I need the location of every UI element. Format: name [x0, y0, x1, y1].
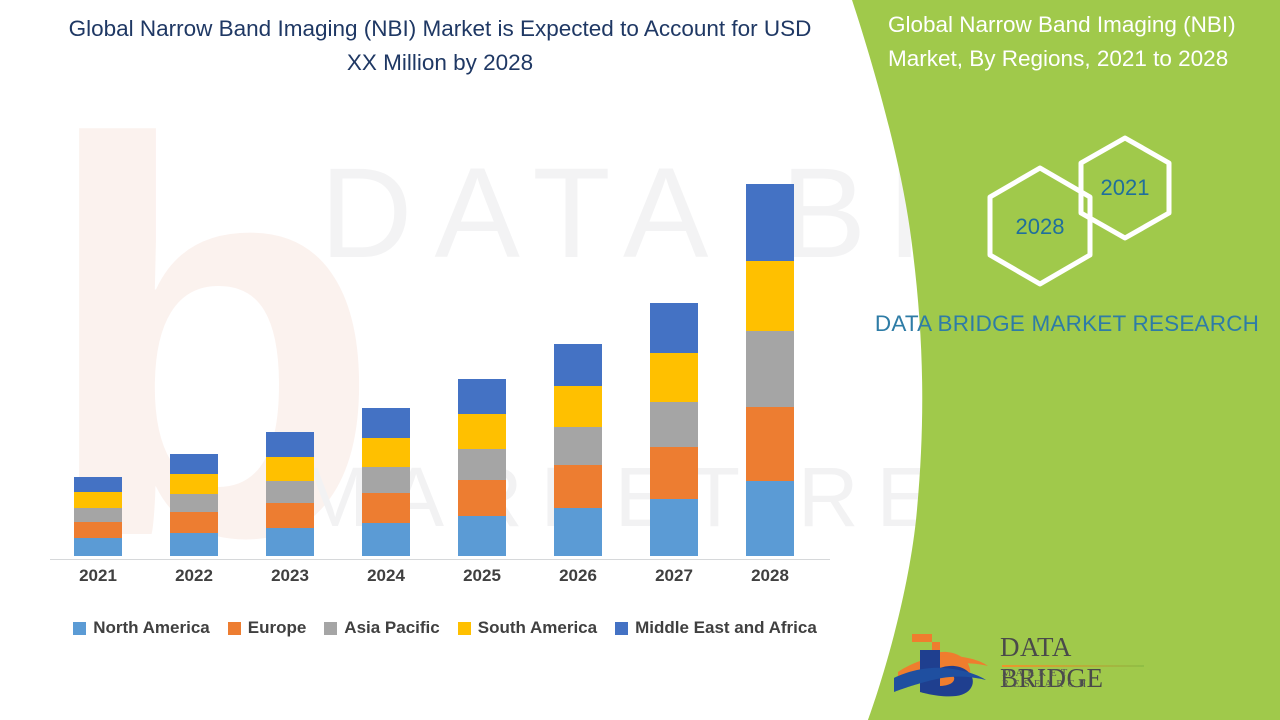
bar-segment[interactable] [74, 477, 122, 492]
hexagon-label-2028: 2028 [990, 214, 1090, 240]
bar-segment[interactable] [170, 494, 218, 512]
legend-swatch-icon [324, 622, 337, 635]
legend-label: South America [478, 618, 597, 638]
bar-segment[interactable] [362, 408, 410, 438]
bar-segment[interactable] [458, 449, 506, 480]
legend-swatch-icon [615, 622, 628, 635]
bar-segment[interactable] [170, 474, 218, 494]
bar-group-2023[interactable] [266, 432, 314, 556]
bar-segment[interactable] [74, 538, 122, 556]
company-logo: DATA BRIDGE MARKET RESEARCH [890, 628, 1140, 700]
legend-label: Asia Pacific [344, 618, 439, 638]
x-axis-label-2028: 2028 [722, 566, 818, 586]
bar-segment[interactable] [362, 467, 410, 493]
logo-subtitle: MARKET RESEARCH [1002, 668, 1140, 690]
x-axis-label-2022: 2022 [146, 566, 242, 586]
x-axis-label-2026: 2026 [530, 566, 626, 586]
bar-segment[interactable] [458, 379, 506, 414]
legend-label: Europe [248, 618, 307, 638]
bar-group-2028[interactable] [746, 184, 794, 556]
bar-group-2026[interactable] [554, 344, 602, 556]
x-axis-label-2021: 2021 [50, 566, 146, 586]
bar-segment[interactable] [266, 481, 314, 503]
legend-label: Middle East and Africa [635, 618, 817, 638]
bar-segment[interactable] [746, 407, 794, 481]
bar-group-2021[interactable] [74, 477, 122, 556]
bar-segment[interactable] [554, 465, 602, 508]
bar-segment[interactable] [362, 493, 410, 523]
bar-segment[interactable] [458, 414, 506, 449]
green-panel-content: Global Narrow Band Imaging (NBI) Market,… [852, 0, 1280, 720]
bar-segment[interactable] [266, 457, 314, 481]
bar-group-2024[interactable] [362, 408, 410, 556]
x-axis-label-2023: 2023 [242, 566, 338, 586]
bar-group-2025[interactable] [458, 379, 506, 556]
bar-segment[interactable] [362, 438, 410, 467]
bar-segment[interactable] [650, 402, 698, 447]
bar-segment[interactable] [266, 528, 314, 556]
legend-swatch-icon [228, 622, 241, 635]
bar-segment[interactable] [650, 499, 698, 556]
logo-mark-icon [890, 628, 995, 698]
panel-title: Global Narrow Band Imaging (NBI) Market,… [888, 8, 1278, 76]
bar-segment[interactable] [170, 454, 218, 474]
x-axis-label-2024: 2024 [338, 566, 434, 586]
logo-divider [1002, 665, 1144, 667]
bar-segment[interactable] [554, 508, 602, 556]
bar-segment[interactable] [650, 353, 698, 402]
bar-group-2027[interactable] [650, 303, 698, 556]
chart-legend: North AmericaEuropeAsia PacificSouth Ame… [50, 614, 840, 642]
bar-segment[interactable] [746, 261, 794, 331]
chart-title: Global Narrow Band Imaging (NBI) Market … [60, 12, 820, 80]
x-axis-label-2025: 2025 [434, 566, 530, 586]
legend-item[interactable]: Europe [228, 618, 307, 638]
bar-segment[interactable] [74, 522, 122, 538]
bar-segment[interactable] [746, 481, 794, 556]
legend-swatch-icon [458, 622, 471, 635]
chart-plot-area [50, 90, 830, 560]
bar-segment[interactable] [554, 386, 602, 427]
bar-segment[interactable] [170, 512, 218, 533]
bar-segment[interactable] [554, 427, 602, 465]
bar-segment[interactable] [458, 516, 506, 556]
legend-item[interactable]: North America [73, 618, 210, 638]
legend-item[interactable]: Middle East and Africa [615, 618, 817, 638]
bar-segment[interactable] [554, 344, 602, 386]
bar-segment[interactable] [458, 480, 506, 516]
legend-item[interactable]: South America [458, 618, 597, 638]
legend-swatch-icon [73, 622, 86, 635]
hexagon-label-2021: 2021 [1075, 175, 1175, 201]
legend-item[interactable]: Asia Pacific [324, 618, 439, 638]
bar-group-2022[interactable] [170, 454, 218, 556]
bar-segment[interactable] [74, 492, 122, 508]
x-axis-label-2027: 2027 [626, 566, 722, 586]
brand-name: DATA BRIDGE MARKET RESEARCH [872, 308, 1262, 340]
bar-segment[interactable] [650, 447, 698, 499]
bar-segment[interactable] [266, 503, 314, 528]
legend-label: North America [93, 618, 210, 638]
hexagon-group: 2021 2028 [977, 130, 1207, 310]
bar-segment[interactable] [746, 184, 794, 261]
bar-series-container [50, 90, 830, 557]
bar-segment[interactable] [650, 303, 698, 353]
bar-segment[interactable] [746, 331, 794, 407]
bar-segment[interactable] [362, 523, 410, 556]
bar-segment[interactable] [74, 508, 122, 522]
x-axis-line [50, 559, 830, 560]
bar-segment[interactable] [266, 432, 314, 457]
x-axis-labels: 20212022202320242025202620272028 [50, 566, 830, 594]
bar-segment[interactable] [170, 533, 218, 556]
